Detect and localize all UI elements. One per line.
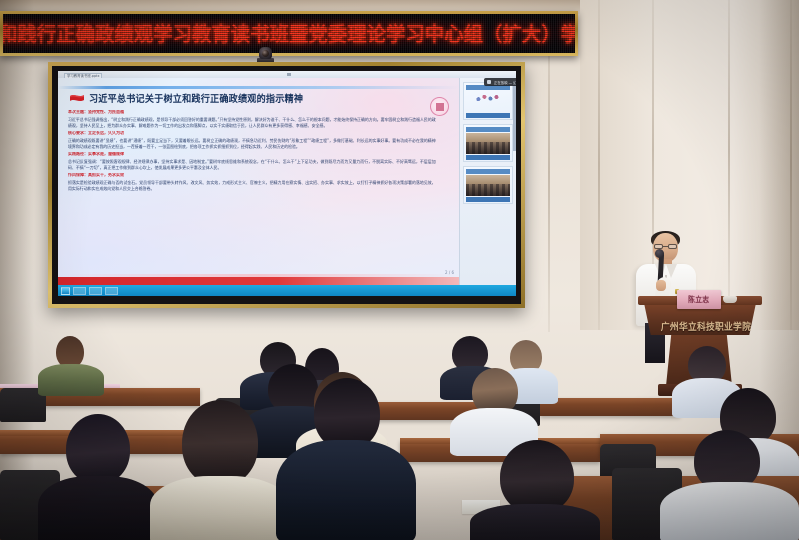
- desk-row-1: [540, 398, 680, 416]
- thumb-photo: [466, 175, 510, 196]
- slide-accent-line: [58, 86, 459, 89]
- slide-section-heading: 核心要求：立足长远，久久为功: [68, 131, 424, 137]
- person-shoulders: [38, 364, 104, 396]
- app-topbar-dot: [287, 73, 291, 76]
- podium-nameplate-text: 广州华立科技职业学院: [661, 319, 751, 333]
- slide-content: 本次主题：坚持党性、为民造福 习近平总书记强调指出，“树立和践行正确政绩观，是领…: [65, 110, 453, 192]
- audience-member: [660, 430, 799, 540]
- app-topbar: 学习教育读书班.pptx: [58, 71, 516, 78]
- led-banner-screen: 树立和践行正确政绩观学习教育读书班暨党委理论学习中心组（扩大）学习会: [3, 14, 575, 53]
- glasses-lens-right: [668, 244, 677, 249]
- conference-hall-photo: 树立和践行正确政绩观学习教育读书班暨党委理论学习中心组（扩大）学习会 学习教育读…: [0, 0, 799, 540]
- audience-member: [276, 378, 416, 540]
- wall-panel-seam: [598, 0, 600, 330]
- start-button[interactable]: [61, 287, 70, 295]
- slide-section-body: 正确的政绩观既要讲“显绩”，也要讲“潜绩”，既要立足当下，又要着眼长远。要树立正…: [68, 138, 436, 150]
- slide-title: 习近平总书记关于树立和践行正确政绩观的指示精神: [89, 91, 303, 105]
- taskbar-item-1[interactable]: [73, 287, 86, 295]
- person-shoulders: [660, 482, 799, 540]
- audience-member: [150, 400, 290, 540]
- slide-body: 习近平总书记关于树立和践行正确政绩观的指示精神 本次主题：坚持党性、为民造福 习…: [58, 78, 516, 285]
- led-banner-text: 树立和践行正确政绩观学习教育读书班暨党委理论学习中心组（扩大）学习会: [3, 24, 575, 44]
- slide-thumb-3[interactable]: [463, 166, 513, 204]
- slide-section-heading: 本次主题：坚持党性、为民造福: [68, 110, 424, 116]
- projection-screen-bezel: 学习教育读书班.pptx: [52, 66, 521, 304]
- desktop-taskbar[interactable]: [58, 285, 516, 296]
- slide-title-row: 习近平总书记关于树立和践行正确政绩观的指示精神: [70, 91, 453, 105]
- microphone-head: [655, 249, 664, 258]
- wall-shading-left: [0, 0, 34, 540]
- person-shoulders: [276, 440, 416, 540]
- slide-bottom-bar: [58, 277, 459, 285]
- slideshow-icon[interactable]: [487, 80, 491, 84]
- person-shoulders: [38, 476, 158, 540]
- speaker-name-card: 陈立志: [677, 290, 721, 309]
- person-head: [500, 440, 574, 514]
- slide-section-heading: 作风保障：真抓实干，务求实效: [68, 173, 424, 179]
- thumb-title-bar: [466, 169, 510, 174]
- person-shoulders: [470, 504, 600, 540]
- led-banner: 树立和践行正确政绩观学习教育读书班暨党委理论学习中心组（扩大）学习会: [0, 11, 578, 56]
- projection-screen-frame: 学习教育读书班.pptx: [48, 62, 525, 308]
- audience-member: [38, 336, 104, 394]
- projection-screen-surface: 学习教育读书班.pptx: [58, 71, 516, 296]
- thumb-caption-bar: [466, 197, 510, 202]
- thumb-caption-bar: [466, 155, 510, 160]
- audience-member: [470, 440, 600, 540]
- wall-panel-seam: [548, 12, 550, 332]
- wall-panel-seam: [728, 0, 730, 300]
- thumb-photo: [466, 133, 510, 154]
- person-shoulders: [150, 476, 290, 540]
- slide-section-body: 总书记反复强调：“要按照客观规律、经济规律办事，坚持实事求是、因地制宜。”要树牢…: [68, 159, 436, 171]
- water-cup: [723, 296, 737, 303]
- thumb-people-graphic: [473, 92, 503, 104]
- taskbar-item-2[interactable]: [89, 287, 102, 295]
- seal-core: [436, 103, 444, 111]
- slideshow-toolbar-label: 正在放映 — 幻灯片放映…: [494, 80, 516, 85]
- slideshow-toolbar[interactable]: 正在放映 — 幻灯片放映…: [484, 78, 516, 86]
- audience-member: [38, 414, 158, 540]
- speaker-hand: [656, 280, 666, 291]
- speaker-collar-right: [666, 264, 677, 278]
- person-head: [182, 400, 258, 486]
- thumb-title-bar: [466, 127, 510, 132]
- speaker-name-card-text: 陈立志: [688, 294, 709, 305]
- slide-section-body: 习近平总书记强调指出，“树立和践行正确政绩观，是领导干部必须回答好的重要课题。”…: [68, 117, 436, 129]
- thumbnail-rail-scrollbar[interactable]: [513, 81, 516, 151]
- active-slide: 习近平总书记关于树立和践行正确政绩观的指示精神 本次主题：坚持党性、为民造福 习…: [58, 78, 459, 285]
- slide-thumbnail-rail[interactable]: [459, 78, 516, 285]
- slide-thumb-1[interactable]: [463, 82, 513, 120]
- thumb-caption-bar: [466, 113, 510, 118]
- slide-thumb-2[interactable]: [463, 124, 513, 162]
- podium-nameplate: 广州华立科技职业学院: [656, 317, 756, 334]
- slide-section-heading: 实践路径：实事求是，遵循规律: [68, 152, 424, 158]
- camera-lens: [262, 50, 269, 57]
- slide-section-body: 抓落实是检验政绩观正确与否的试金石。党员领导干部要带头转作风、改文风、务实效，力…: [68, 180, 436, 192]
- red-flag-icon: [70, 94, 84, 103]
- person-head: [66, 414, 130, 484]
- party-emblem-seal-icon: [430, 97, 449, 116]
- taskbar-item-3[interactable]: [105, 287, 118, 295]
- presentation-window: 学习教育读书班.pptx: [58, 71, 516, 296]
